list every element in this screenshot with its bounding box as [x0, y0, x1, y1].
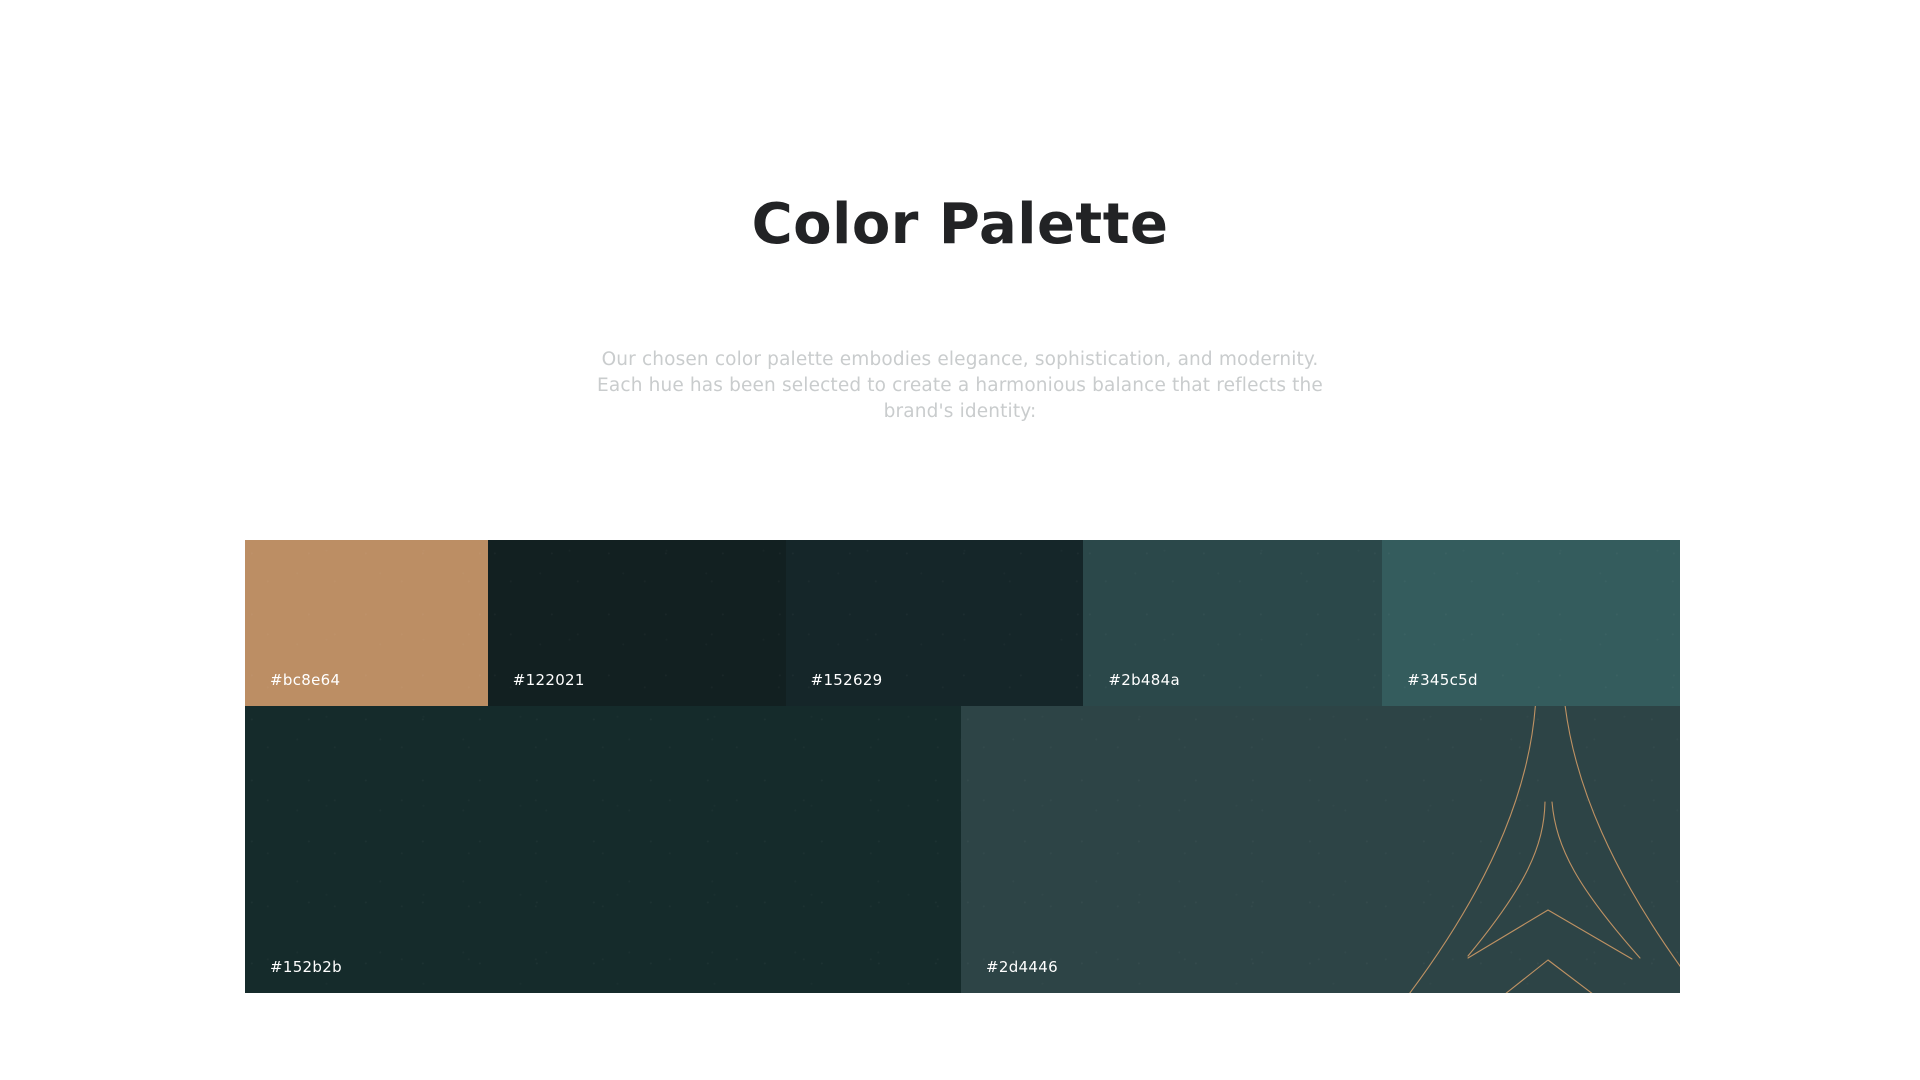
- swatch-hex-label: #152b2b: [270, 958, 342, 976]
- palette-grid: #bc8e64 #122021 #152629 #2b484a #345c5d …: [245, 540, 1680, 993]
- color-swatch[interactable]: #2d4446: [961, 706, 1680, 993]
- palette-description: Our chosen color palette embodies elegan…: [575, 347, 1345, 425]
- swatch-hex-label: #345c5d: [1407, 671, 1478, 689]
- swatch-hex-label: #bc8e64: [270, 671, 340, 689]
- swatch-hex-label: #122021: [513, 671, 585, 689]
- color-swatch[interactable]: #122021: [488, 540, 786, 706]
- palette-row-bottom: #152b2b #2d4446: [245, 706, 1680, 993]
- color-swatch[interactable]: #345c5d: [1382, 540, 1680, 706]
- swatch-hex-label: #2d4446: [986, 958, 1058, 976]
- swatch-hex-label: #2b484a: [1108, 671, 1180, 689]
- color-swatch[interactable]: #152b2b: [245, 706, 961, 993]
- page-header: Color Palette: [0, 196, 1920, 255]
- color-swatch[interactable]: #bc8e64: [245, 540, 488, 706]
- color-palette-page: Color Palette Our chosen color palette e…: [0, 0, 1920, 1080]
- palette-row-top: #bc8e64 #122021 #152629 #2b484a #345c5d: [245, 540, 1680, 706]
- page-title: Color Palette: [0, 196, 1920, 255]
- color-swatch[interactable]: #2b484a: [1083, 540, 1382, 706]
- color-swatch[interactable]: #152629: [786, 540, 1084, 706]
- swatch-hex-label: #152629: [811, 671, 883, 689]
- nested-chevron-line-art-icon: [1340, 706, 1680, 993]
